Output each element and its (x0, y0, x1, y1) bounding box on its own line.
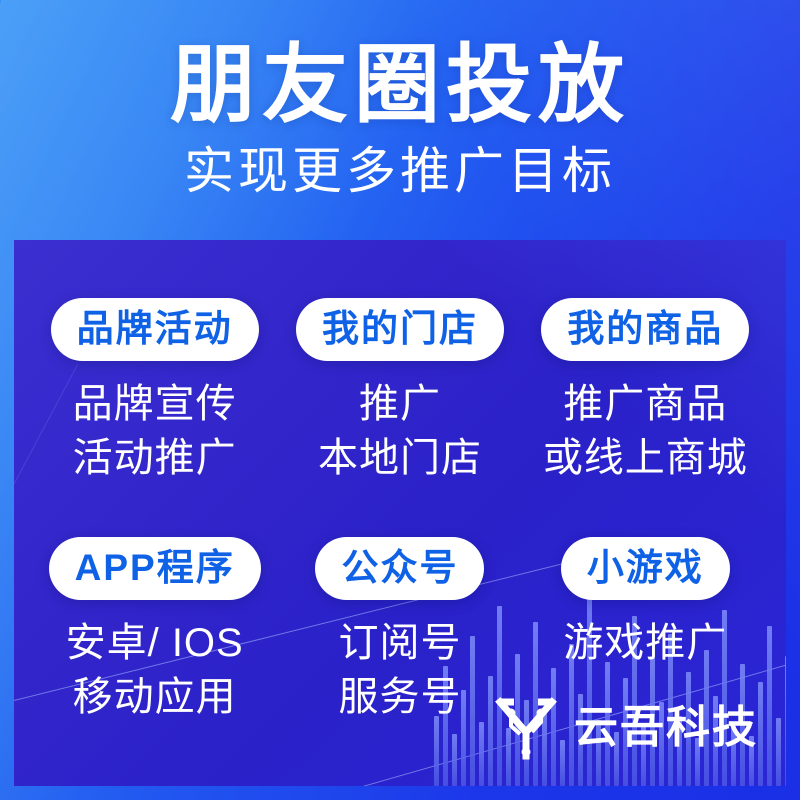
feature-cell-official-account[interactable]: 公众号 订阅号 服务号 (277, 537, 522, 776)
feature-line: 推广 (318, 377, 482, 431)
feature-pill-official-account[interactable]: 公众号 (315, 537, 484, 600)
feature-pill-mini-game[interactable]: 小游戏 (561, 537, 730, 600)
feature-pill-my-products[interactable]: 我的商品 (541, 298, 749, 361)
feature-pill-my-store[interactable]: 我的门店 (296, 298, 504, 361)
feature-cell-app-program[interactable]: APP程序 安卓/ IOS 移动应用 (32, 537, 277, 776)
brand-logo: 云吾科技 (490, 692, 758, 764)
feature-description-app-program: 安卓/ IOS 移动应用 (66, 616, 244, 724)
feature-line: 品牌宣传 (73, 377, 237, 431)
feature-line: 订阅号 (338, 616, 461, 670)
feature-line: 或线上商城 (543, 431, 748, 485)
feature-line: 推广商品 (543, 377, 748, 431)
brand-name: 云吾科技 (574, 706, 758, 750)
feature-cell-brand-activity[interactable]: 品牌活动 品牌宣传 活动推广 (32, 298, 277, 537)
feature-description-my-products: 推广商品 或线上商城 (543, 377, 748, 485)
features-card: 品牌活动 品牌宣传 活动推广 我的门店 推广 本地门店 我的商品 推广商品 或线… (14, 240, 786, 786)
page-title: 朋友圈投放 (0, 42, 800, 128)
y-circuit-logo-icon (490, 692, 562, 764)
feature-line: 服务号 (338, 670, 461, 724)
feature-line: 活动推广 (73, 431, 237, 485)
feature-pill-brand-activity[interactable]: 品牌活动 (51, 298, 259, 361)
feature-pill-app-program[interactable]: APP程序 (49, 537, 261, 600)
promo-poster: 朋友圈投放 实现更多推广目标 品牌活动 品牌宣传 活动推广 我的门店 推广 本地… (0, 0, 800, 800)
feature-line: 移动应用 (66, 670, 244, 724)
feature-line: 游戏推广 (563, 616, 727, 670)
feature-description-my-store: 推广 本地门店 (318, 377, 482, 485)
page-subtitle: 实现更多推广目标 (0, 143, 800, 201)
feature-line: 本地门店 (318, 431, 482, 485)
feature-description-official-account: 订阅号 服务号 (338, 616, 461, 724)
feature-description-brand-activity: 品牌宣传 活动推广 (73, 377, 237, 485)
feature-description-mini-game: 游戏推广 (563, 616, 727, 670)
poster-header: 朋友圈投放 实现更多推广目标 (0, 0, 800, 240)
feature-cell-my-products[interactable]: 我的商品 推广商品 或线上商城 (523, 298, 768, 537)
feature-line: 安卓/ IOS (66, 616, 244, 670)
feature-cell-my-store[interactable]: 我的门店 推广 本地门店 (277, 298, 522, 537)
